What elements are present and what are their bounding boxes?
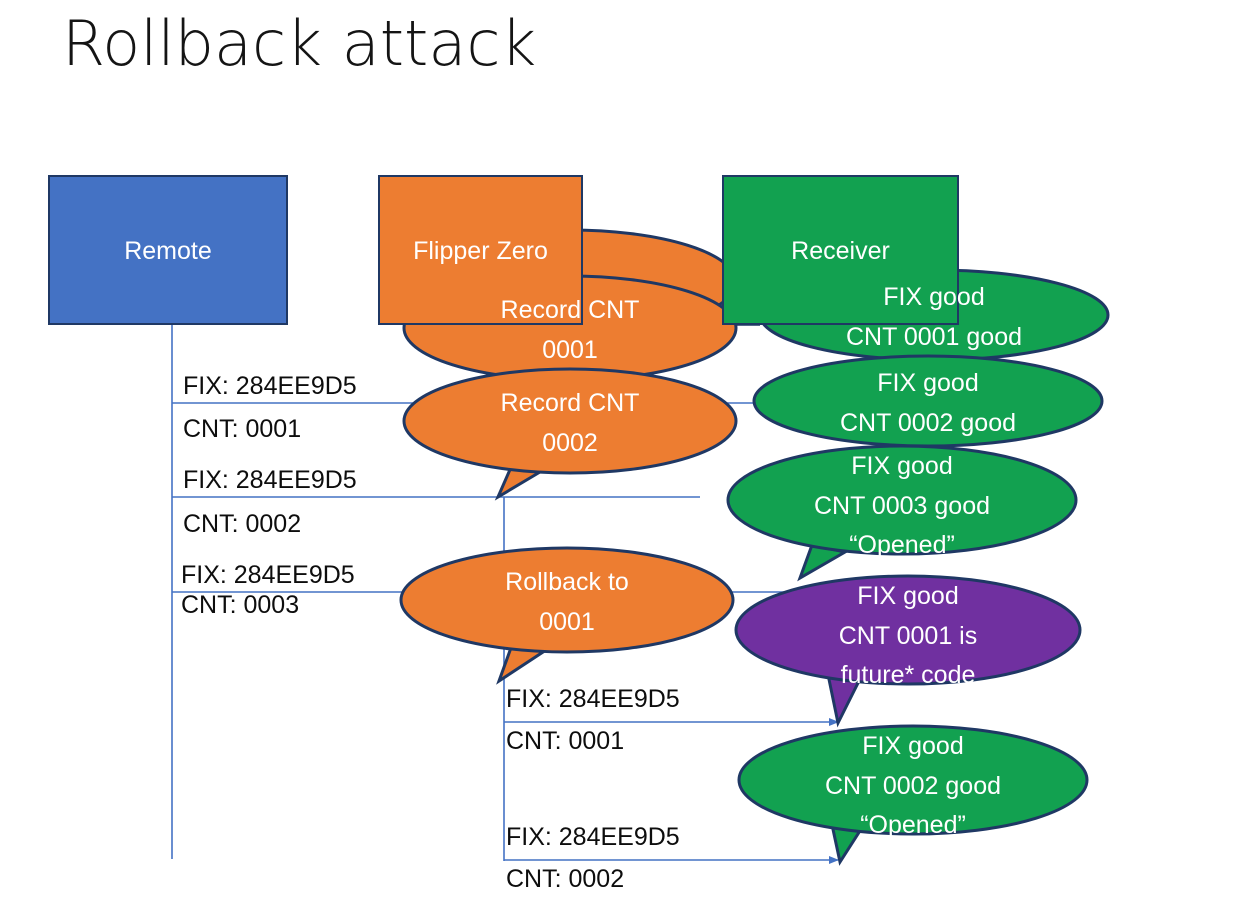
lane-box-receiver[interactable]: Receiver [722, 175, 959, 325]
message-3-fix: FIX: 284EE9D5 [181, 560, 355, 590]
callout-shape-future-0001 [736, 576, 1080, 723]
lane-box-remote[interactable]: Remote [48, 175, 288, 325]
callout-shape-verify-0003 [728, 446, 1076, 578]
message-4-cnt: CNT: 0001 [506, 726, 624, 756]
page-title: Rollback attack [62, 8, 536, 79]
slide-canvas: Rollback attack Remote Flipper Zero Rece… [0, 0, 1233, 898]
connector-layer [0, 0, 1233, 898]
message-1-fix: FIX: 284EE9D5 [183, 371, 357, 401]
callout-shape-verify-0002 [754, 356, 1102, 446]
callout-shape-replay-0002 [739, 726, 1087, 862]
message-1-cnt: CNT: 0001 [183, 414, 301, 444]
message-2-cnt: CNT: 0002 [183, 509, 301, 539]
message-4-fix: FIX: 284EE9D5 [506, 684, 680, 714]
lane-label-receiver: Receiver [791, 236, 890, 266]
callout-shape-rollback-0001 [401, 548, 733, 681]
lane-label-remote: Remote [124, 236, 212, 266]
message-3-cnt: CNT: 0003 [181, 590, 299, 620]
message-2-fix: FIX: 284EE9D5 [183, 465, 357, 495]
message-5-fix: FIX: 284EE9D5 [506, 822, 680, 852]
callout-shape-record-0002 [404, 369, 736, 497]
lane-box-flipper[interactable]: Flipper Zero [378, 175, 583, 325]
message-5-cnt: CNT: 0002 [506, 864, 624, 894]
lane-label-flipper: Flipper Zero [413, 236, 548, 266]
